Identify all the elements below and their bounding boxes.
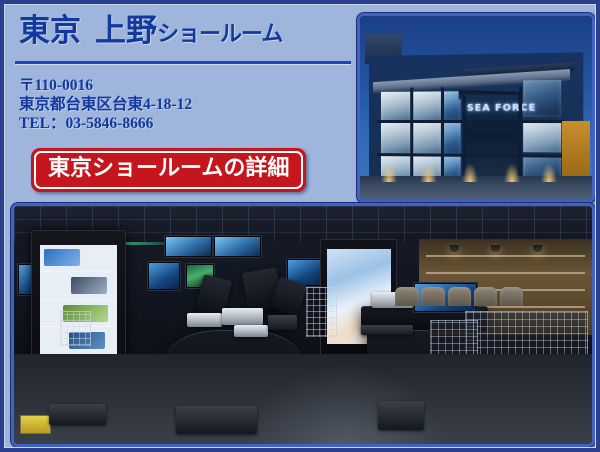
floor-sign xyxy=(20,415,51,434)
street-address: 東京都台東区台東4-18-12 xyxy=(19,95,353,114)
sea-force-signage: SEA FORCE xyxy=(467,103,536,114)
uplight-glow xyxy=(541,163,557,181)
display-equipment xyxy=(361,325,413,335)
wire-cart xyxy=(60,311,91,346)
detail-button-wrap: 東京ショールームの詳細 xyxy=(31,148,306,192)
shelf xyxy=(426,255,586,257)
uplight-glow xyxy=(420,163,436,181)
wire-cart xyxy=(306,287,337,337)
display-equipment xyxy=(234,325,269,337)
showroom-exterior-photo[interactable]: SEA FORCE xyxy=(357,13,595,203)
seat xyxy=(448,287,471,306)
monitor-screen xyxy=(149,263,179,290)
postal-code: 〒110-0016 xyxy=(19,76,353,95)
floor-unit xyxy=(176,406,257,435)
pendant-lamp xyxy=(491,245,500,252)
title-sub: ショールーム xyxy=(157,21,282,46)
window-pane xyxy=(381,92,410,121)
display-equipment xyxy=(222,308,262,325)
uplight-glow xyxy=(462,163,478,181)
telephone: TEL：03-5846-8666 xyxy=(19,114,353,133)
mullion xyxy=(410,88,413,184)
kiosk-screen-cell xyxy=(40,245,118,272)
showroom-detail-button[interactable]: 東京ショールームの詳細 xyxy=(31,148,306,192)
window-pane xyxy=(412,123,441,155)
pendant-lamp xyxy=(450,245,459,252)
window-pane xyxy=(381,123,410,155)
monitor-screen xyxy=(166,237,210,256)
floor-unit xyxy=(49,404,107,425)
monitor-screen xyxy=(215,237,259,256)
title-place: 上野 xyxy=(95,13,157,48)
wall-monitor xyxy=(213,235,261,258)
mullion xyxy=(442,88,445,185)
seat xyxy=(474,287,497,306)
window-pane xyxy=(444,123,461,156)
mullion xyxy=(377,120,565,123)
page-title: 東京上野ショールーム xyxy=(13,11,353,54)
uplight-glow xyxy=(504,163,520,181)
exterior-scene: SEA FORCE xyxy=(360,16,592,200)
showroom-detail-button-label: 東京ショールームの詳細 xyxy=(34,151,303,189)
address-block: 〒110-0016 東京都台東区台東4-18-12 TEL：03-5846-86… xyxy=(13,76,353,133)
pendant-lamp xyxy=(533,245,542,252)
kiosk-screen-cell xyxy=(40,272,118,299)
adjacent-wall xyxy=(562,121,590,176)
showroom-interior-photo[interactable]: SEA FORCE SEA FORCE xyxy=(11,203,595,447)
title-main: 東京 xyxy=(19,13,81,48)
window-pane xyxy=(523,120,561,153)
shelf xyxy=(426,272,586,274)
seat xyxy=(421,287,444,306)
seat xyxy=(500,287,523,306)
interior-scene: SEA FORCE SEA FORCE xyxy=(14,206,592,444)
page-inner: 東京上野ショールーム 〒110-0016 東京都台東区台東4-18-12 TEL… xyxy=(4,4,596,448)
display-equipment xyxy=(187,313,222,327)
window-pane xyxy=(412,92,441,122)
title-divider xyxy=(15,61,351,65)
page-frame: 東京上野ショールーム 〒110-0016 東京都台東区台東4-18-12 TEL… xyxy=(0,0,600,452)
wall-monitor xyxy=(164,235,212,258)
seat xyxy=(395,287,418,306)
uplight-glow xyxy=(381,163,397,181)
floor-unit xyxy=(378,401,424,430)
wall-monitor xyxy=(147,261,181,292)
display-equipment xyxy=(268,315,297,329)
